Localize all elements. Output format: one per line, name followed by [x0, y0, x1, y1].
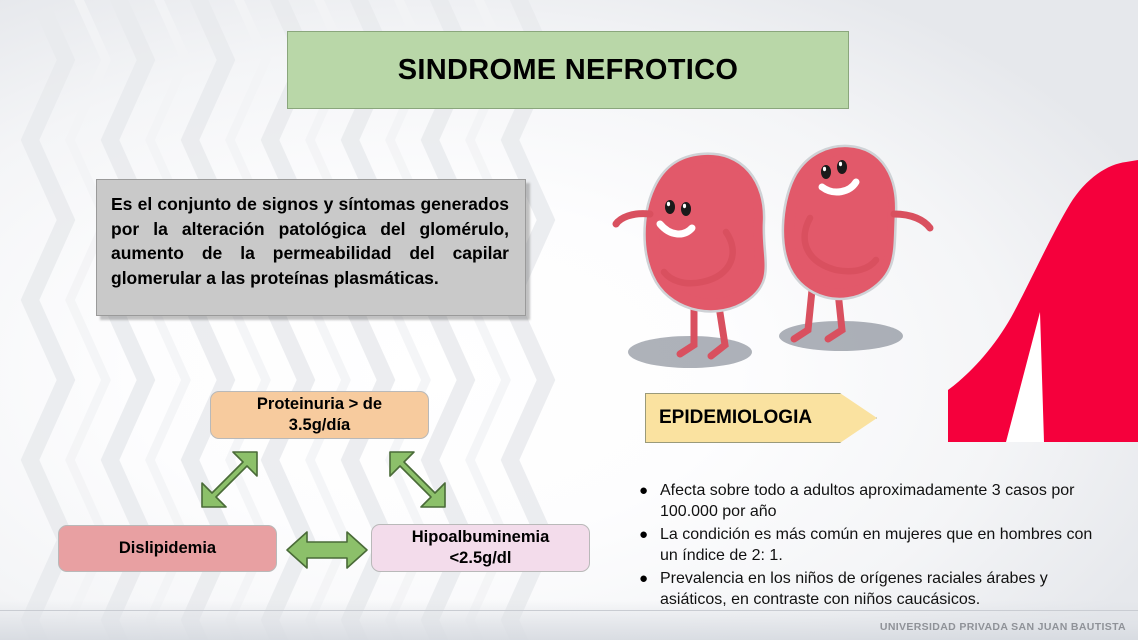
- slide-title-box: SINDROME NEFROTICO: [287, 31, 849, 109]
- list-item: ● Afecta sobre todo a adultos aproximada…: [632, 480, 1102, 522]
- bullet-dot-icon: ●: [632, 568, 660, 589]
- list-item-text: La condición es más común en mujeres que…: [660, 524, 1102, 566]
- arrow-diagonal-left-icon: [196, 446, 266, 516]
- kidney-characters-illustration: [598, 140, 948, 385]
- definition-box: Es el conjunto de signos y síntomas gene…: [96, 179, 526, 316]
- list-item-text: Afecta sobre todo a adultos aproximadame…: [660, 480, 1102, 522]
- flow-box-proteinuria-line1: Proteinuria > de: [257, 395, 382, 413]
- flow-box-proteinuria-line2: 3.5g/día: [289, 416, 350, 434]
- list-item-text: Prevalencia en los niños de orígenes rac…: [660, 568, 1102, 610]
- bullet-dot-icon: ●: [632, 480, 660, 501]
- flow-box-hipoalbuminemia-line2: <2.5g/dl: [450, 549, 512, 567]
- flow-box-hipoalbuminemia: Hipoalbuminemia <2.5g/dl: [371, 524, 590, 572]
- flow-box-dislipidemia: Dislipidemia: [58, 525, 277, 572]
- flow-box-hipoalbuminemia-line1: Hipoalbuminemia: [412, 528, 550, 546]
- arrow-diagonal-right-icon: [381, 446, 451, 516]
- flow-box-proteinuria-label: Proteinuria > de 3.5g/día: [257, 394, 382, 436]
- slide-canvas: SINDROME NEFROTICO Es el conjunto de sig…: [0, 0, 1138, 640]
- bullet-dot-icon: ●: [632, 524, 660, 545]
- arrow-horizontal-icon: [283, 528, 371, 572]
- epidemiologia-banner-label: EPIDEMIOLOGIA: [659, 393, 812, 443]
- page-title: SINDROME NEFROTICO: [398, 54, 739, 87]
- footer-university-label: UNIVERSIDAD PRIVADA SAN JUAN BAUTISTA: [880, 621, 1126, 633]
- flow-box-dislipidemia-label: Dislipidemia: [119, 538, 216, 559]
- flow-box-hipoalbuminemia-label: Hipoalbuminemia <2.5g/dl: [412, 527, 550, 569]
- list-item: ● La condición es más común en mujeres q…: [632, 524, 1102, 566]
- definition-text: Es el conjunto de signos y síntomas gene…: [111, 192, 509, 290]
- epidemiologia-banner: EPIDEMIOLOGIA: [645, 393, 877, 443]
- list-item: ● Prevalencia en los niños de orígenes r…: [632, 568, 1102, 610]
- flow-box-proteinuria: Proteinuria > de 3.5g/día: [210, 391, 429, 439]
- red-ribbon-shape: [948, 160, 1138, 442]
- epidemiologia-bullet-list: ● Afecta sobre todo a adultos aproximada…: [632, 480, 1102, 612]
